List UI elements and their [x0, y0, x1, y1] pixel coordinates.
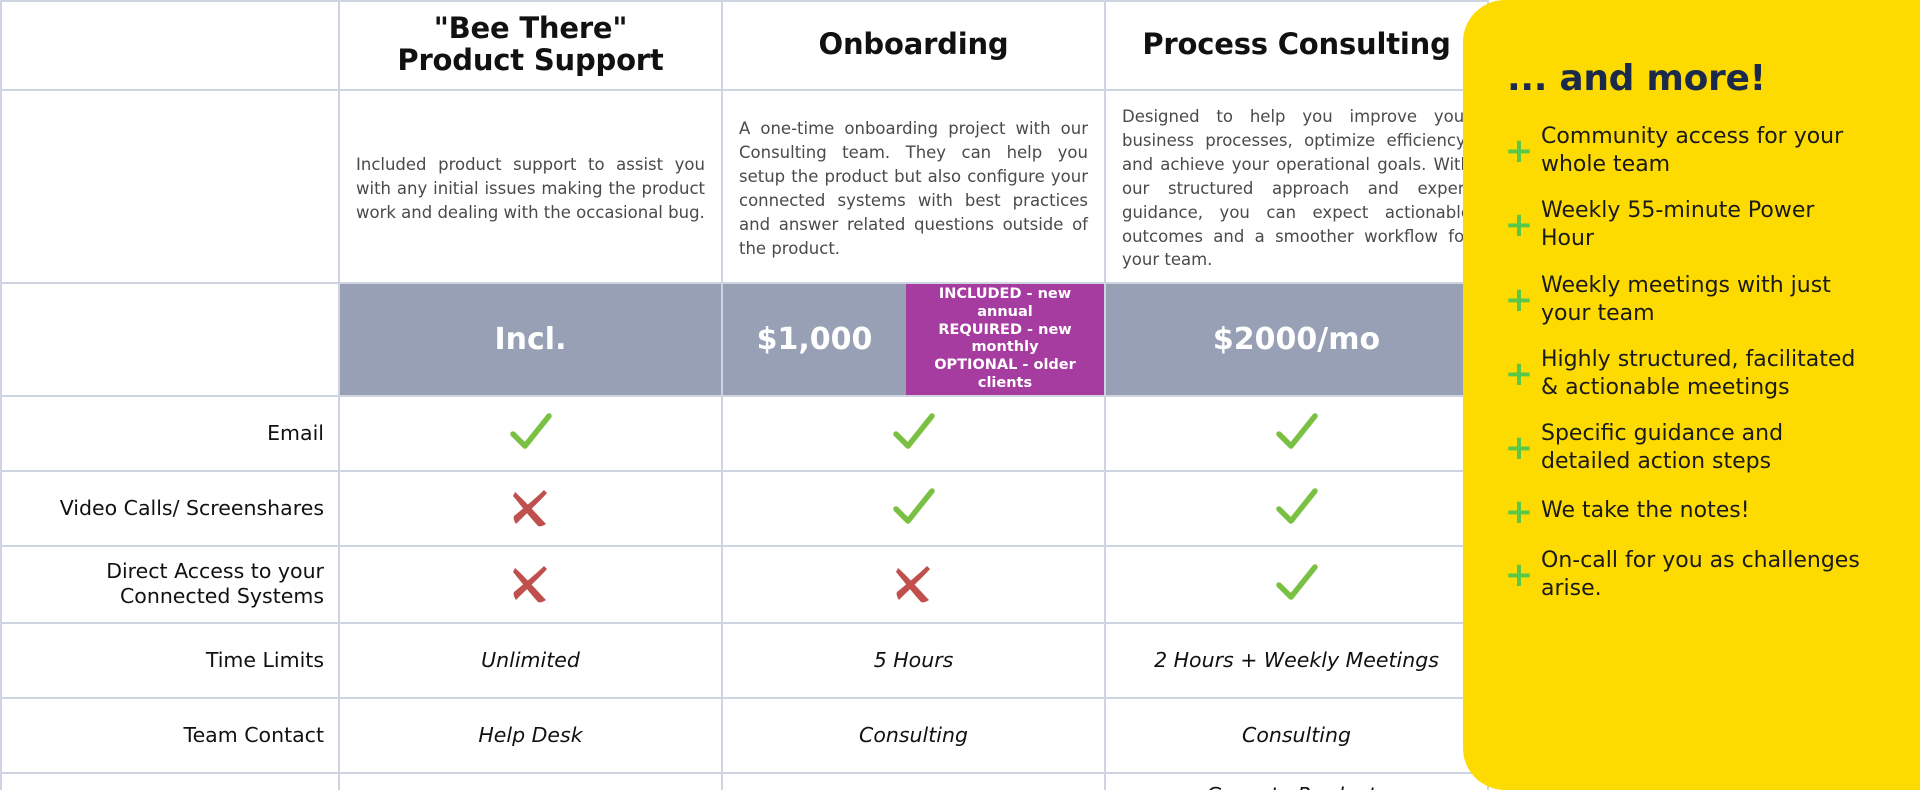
onboarding-requirement-badge: INCLUDED - new annual REQUIRED - new mon…	[906, 284, 1104, 394]
list-item-label: Weekly meetings with just your team	[1541, 272, 1871, 328]
check-icon	[1106, 410, 1487, 456]
feature-label-cell: Scope	[1, 773, 339, 790]
feature-value-cell	[722, 546, 1105, 623]
list-item: + On-call for you as challenges arise.	[1497, 547, 1894, 603]
cross-icon	[340, 485, 721, 531]
list-item-label: Highly structured, facilitated & actiona…	[1541, 346, 1871, 402]
cross-icon	[340, 561, 721, 607]
plan-title-line2: Product Support	[397, 43, 663, 77]
feature-label: Time Limits	[2, 642, 338, 679]
price-with-badge: $1,000 INCLUDED - new annual REQUIRED - …	[723, 284, 1104, 394]
feature-value: Gozynta ProductsConnected ProductsOther …	[1106, 778, 1487, 790]
feature-value: 5 Hours	[723, 643, 1104, 678]
feature-value-cell: Help Desk	[339, 698, 722, 773]
plan-description-cell: Included product support to assist you w…	[339, 90, 722, 283]
feature-value-cell	[722, 396, 1105, 471]
table-row: Direct Access to your Connected Systems	[1, 546, 1488, 623]
plan-price-cell-onboarding: $1,000 INCLUDED - new annual REQUIRED - …	[722, 283, 1105, 395]
feature-label: Team Contact	[2, 717, 338, 754]
table-header-row: "Bee There" Product Support Onboarding P…	[1, 1, 1488, 90]
plus-icon: +	[1497, 431, 1541, 465]
check-icon	[1106, 485, 1487, 531]
list-item: + Weekly 55-minute Power Hour	[1497, 197, 1894, 253]
feature-value: Help Desk	[340, 718, 721, 753]
description-corner-cell	[1, 90, 339, 283]
plan-header-process-consulting: Process Consulting	[1105, 1, 1488, 90]
badge-line-2: REQUIRED - new monthly	[910, 322, 1100, 357]
header-corner-cell	[1, 1, 339, 90]
feature-value-cell: 5 Hours	[722, 623, 1105, 698]
list-item: + We take the notes!	[1497, 495, 1894, 529]
badge-line-3: OPTIONAL - older clients	[910, 357, 1100, 392]
feature-value: Consulting	[723, 718, 1104, 753]
list-item-label: Community access for your whole team	[1541, 123, 1871, 179]
feature-value-cell: Gozynta ProductsConnected ProductsOther …	[1105, 773, 1488, 790]
plus-icon: +	[1497, 558, 1541, 592]
plan-header-onboarding: Onboarding	[722, 1, 1105, 90]
table-row: Time Limits Unlimited 5 Hours 2 Hours + …	[1, 623, 1488, 698]
feature-value: 2 Hours + Weekly Meetings	[1106, 643, 1487, 678]
plan-price: Incl.	[340, 284, 721, 394]
table-price-row: Incl. $1,000 INCLUDED - new annual REQUI…	[1, 283, 1488, 395]
list-item: + Specific guidance and detailed action …	[1497, 420, 1894, 476]
plan-header-product-support: "Bee There" Product Support	[339, 1, 722, 90]
feature-value-cell: Product Only	[339, 773, 722, 790]
feature-value-cell	[722, 471, 1105, 546]
check-icon	[340, 410, 721, 456]
and-more-title: ... and more!	[1507, 58, 1894, 99]
plan-price-cell-process-consulting: $2000/mo	[1105, 283, 1488, 395]
feature-value-cell	[1105, 471, 1488, 546]
feature-value-cell: Unlimited	[339, 623, 722, 698]
check-icon	[723, 410, 1104, 456]
list-item-label: Weekly 55-minute Power Hour	[1541, 197, 1871, 253]
price-corner-cell	[1, 283, 339, 395]
feature-label: Video Calls/ Screenshares	[2, 490, 338, 527]
table-row: Team Contact Help Desk Consulting Consul…	[1, 698, 1488, 773]
badge-line-1: INCLUDED - new annual	[910, 286, 1100, 321]
feature-label-cell: Email	[1, 396, 339, 471]
feature-label-line1: Direct Access to your	[106, 559, 324, 583]
plan-price: $2000/mo	[1106, 284, 1487, 394]
pricing-comparison-page: "Bee There" Product Support Onboarding P…	[0, 0, 1920, 790]
plan-title-line1: Onboarding	[819, 27, 1009, 61]
feature-value-cell: 2 Hours + Weekly Meetings	[1105, 623, 1488, 698]
feature-value: Consulting	[1106, 718, 1487, 753]
plan-title-line1: Process Consulting	[1142, 27, 1450, 61]
plan-title: Onboarding	[723, 18, 1104, 72]
table-row: Video Calls/ Screenshares	[1, 471, 1488, 546]
feature-value-cell	[339, 546, 722, 623]
list-item-label: We take the notes!	[1541, 497, 1750, 525]
feature-value-cell	[1105, 396, 1488, 471]
list-item: + Weekly meetings with just your team	[1497, 272, 1894, 328]
feature-value-cell	[339, 396, 722, 471]
table-row: Scope Product Only Gozynta ProductsConne…	[1, 773, 1488, 790]
feature-label-cell: Video Calls/ Screenshares	[1, 471, 339, 546]
list-item-label: Specific guidance and detailed action st…	[1541, 420, 1871, 476]
cross-icon	[723, 561, 1104, 607]
check-icon	[1106, 561, 1487, 607]
plan-title: Process Consulting	[1106, 18, 1487, 72]
feature-value-cell: Gozynta ProductsConnected Products	[722, 773, 1105, 790]
feature-value-cell	[339, 471, 722, 546]
plus-icon: +	[1497, 208, 1541, 242]
plus-icon: +	[1497, 283, 1541, 317]
plan-comparison-table: "Bee There" Product Support Onboarding P…	[0, 0, 1489, 790]
plan-title: "Bee There" Product Support	[340, 2, 721, 89]
table-description-row: Included product support to assist you w…	[1, 90, 1488, 283]
feature-label: Email	[2, 415, 338, 452]
feature-label-cell: Team Contact	[1, 698, 339, 773]
check-icon	[723, 485, 1104, 531]
plan-title-line1: "Bee There"	[434, 11, 628, 45]
list-item-label: On-call for you as challenges arise.	[1541, 547, 1871, 603]
and-more-panel: ... and more! + Community access for you…	[1463, 0, 1920, 790]
and-more-list: + Community access for your whole team +…	[1497, 123, 1894, 603]
feature-label-cell: Direct Access to your Connected Systems	[1, 546, 339, 623]
plan-description-cell: A one-time onboarding project with our C…	[722, 90, 1105, 283]
plus-icon: +	[1497, 495, 1541, 529]
list-item: + Community access for your whole team	[1497, 123, 1894, 179]
feature-label: Direct Access to your Connected Systems	[2, 553, 338, 614]
list-item: + Highly structured, facilitated & actio…	[1497, 346, 1894, 402]
plus-icon: +	[1497, 357, 1541, 391]
feature-value-cell: Consulting	[1105, 698, 1488, 773]
feature-value-cell	[1105, 546, 1488, 623]
plan-price: $1,000	[723, 284, 906, 394]
plan-description: Designed to help you improve your busine…	[1106, 91, 1487, 282]
feature-value-cell: Consulting	[722, 698, 1105, 773]
plan-description-cell: Designed to help you improve your busine…	[1105, 90, 1488, 283]
plus-icon: +	[1497, 134, 1541, 168]
feature-value: Unlimited	[340, 643, 721, 678]
plan-description: Included product support to assist you w…	[340, 139, 721, 235]
plan-price-cell-product-support: Incl.	[339, 283, 722, 395]
plan-description: A one-time onboarding project with our C…	[723, 103, 1104, 271]
feature-label-cell: Time Limits	[1, 623, 339, 698]
table-row: Email	[1, 396, 1488, 471]
feature-label-line2: Connected Systems	[120, 584, 324, 608]
